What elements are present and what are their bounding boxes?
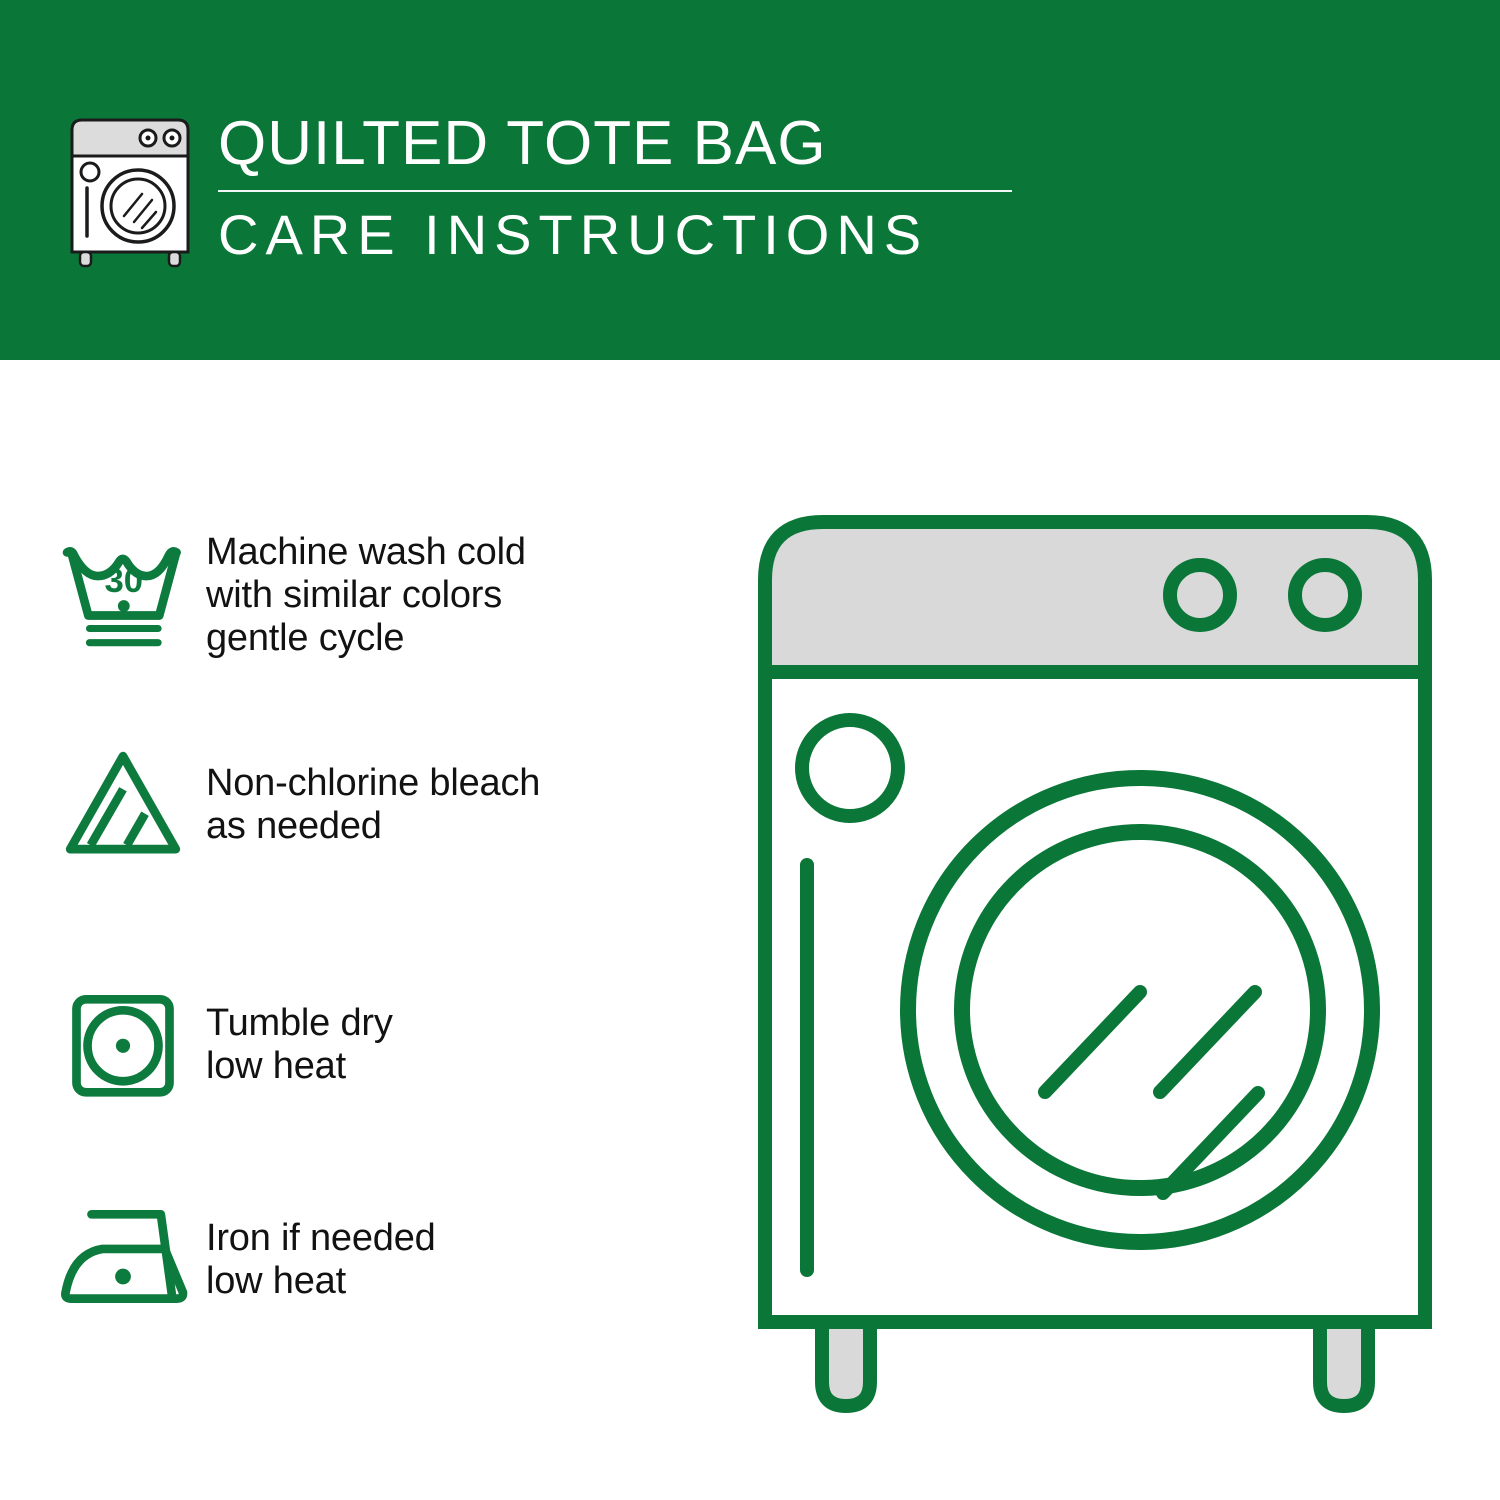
washing-machine-icon: [62, 108, 198, 268]
wash-temperature-value: 30: [104, 562, 143, 600]
care-item-label: Non-chlorine bleach as needed: [190, 762, 540, 848]
care-label-line: Non-chlorine bleach: [206, 762, 540, 805]
leg-right: [1320, 1322, 1368, 1406]
care-item-bleach: Non-chlorine bleach as needed: [0, 710, 740, 900]
iron-low-heat-icon: [0, 1165, 190, 1355]
care-label-line: Iron if needed: [206, 1217, 436, 1260]
care-label-line: Tumble dry: [206, 1002, 393, 1045]
care-item-label: Iron if needed low heat: [190, 1217, 436, 1303]
tumble-dry-low-icon: [0, 950, 190, 1140]
page-title: QUILTED TOTE BAG: [218, 108, 1018, 180]
care-item-tumble-dry: Tumble dry low heat: [0, 950, 740, 1140]
washing-machine-illustration: [735, 480, 1455, 1440]
care-label-line: with similar colors: [206, 574, 526, 617]
care-instruction-list: 30 Machine wash cold with similar colors…: [0, 360, 740, 1500]
care-instructions-page: QUILTED TOTE BAG CARE INSTRUCTIONS 30: [0, 0, 1500, 1500]
knob-left: [1170, 565, 1230, 625]
door-inner-ring: [962, 832, 1318, 1188]
page-subtitle: CARE INSTRUCTIONS: [218, 204, 1018, 266]
leg-left: [822, 1322, 870, 1406]
header-text-block: QUILTED TOTE BAG CARE INSTRUCTIONS: [218, 108, 1018, 266]
care-item-machine-wash: 30 Machine wash cold with similar colors…: [0, 500, 740, 690]
dispenser-circle: [802, 720, 898, 816]
knob-right: [1295, 565, 1355, 625]
care-item-iron: Iron if needed low heat: [0, 1165, 740, 1355]
care-label-line: gentle cycle: [206, 617, 526, 660]
care-label-line: low heat: [206, 1045, 393, 1088]
non-chlorine-bleach-icon: [0, 710, 190, 900]
title-divider: [218, 190, 1012, 192]
machine-wash-30-gentle-icon: 30: [0, 500, 190, 690]
care-label-line: Machine wash cold: [206, 531, 526, 574]
care-label-line: as needed: [206, 805, 540, 848]
care-item-label: Machine wash cold with similar colors ge…: [190, 531, 526, 660]
care-label-line: low heat: [206, 1260, 436, 1303]
header-banner: QUILTED TOTE BAG CARE INSTRUCTIONS: [0, 0, 1500, 360]
care-item-label: Tumble dry low heat: [190, 1002, 393, 1088]
